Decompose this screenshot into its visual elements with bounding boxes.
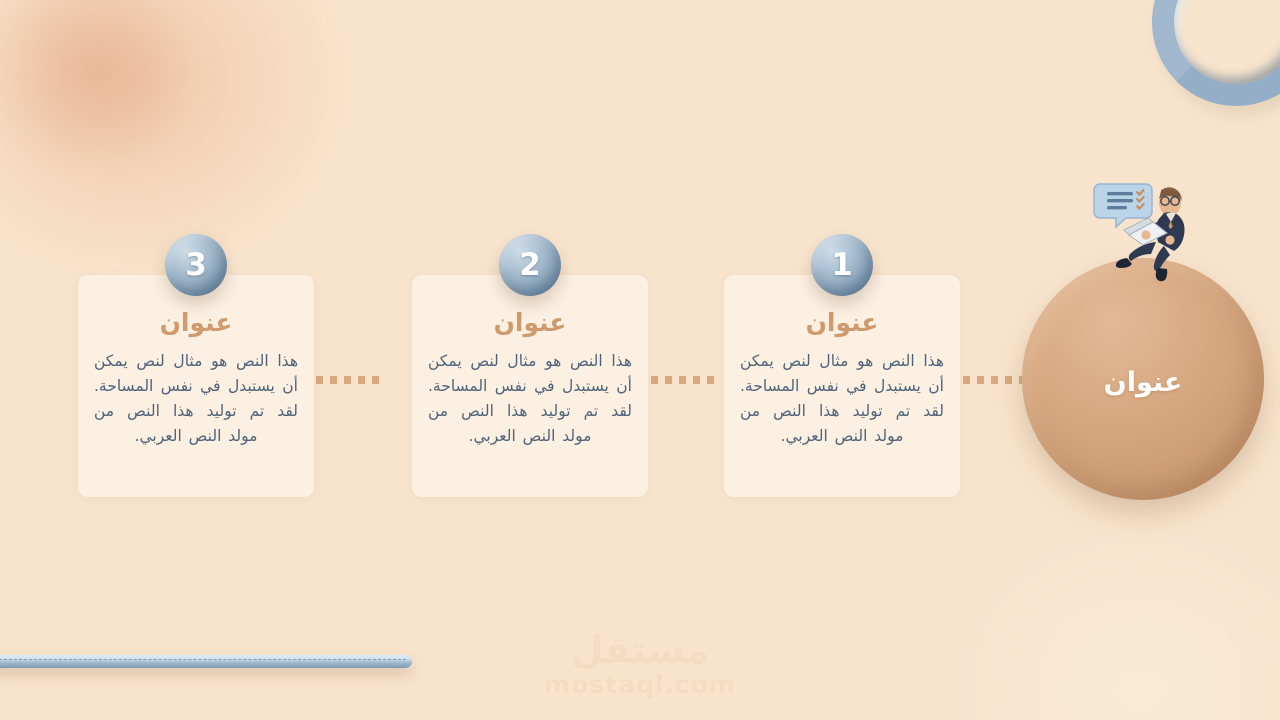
horizontal-bar-decoration bbox=[0, 655, 412, 668]
hero-circle-label: عنوان bbox=[1104, 367, 1183, 398]
step-badge-2[interactable]: 2 bbox=[499, 234, 561, 296]
info-card-2[interactable]: عنوان هذا النص هو مثال لنص يمكن أن يستبد… bbox=[412, 275, 648, 497]
card-body: هذا النص هو مثال لنص يمكن أن يستبدل في ن… bbox=[428, 349, 632, 449]
hero-circle[interactable]: عنوان bbox=[1022, 258, 1264, 500]
info-card-1[interactable]: عنوان هذا النص هو مثال لنص يمكن أن يستبد… bbox=[724, 275, 960, 497]
step-badge-number: 2 bbox=[519, 250, 541, 281]
card-title: عنوان bbox=[428, 309, 632, 337]
torus-ring-icon bbox=[1152, 0, 1280, 106]
card-title: عنوان bbox=[94, 309, 298, 337]
card-body: هذا النص هو مثال لنص يمكن أن يستبدل في ن… bbox=[740, 349, 944, 449]
info-card-3[interactable]: عنوان هذا النص هو مثال لنص يمكن أن يستبد… bbox=[78, 275, 314, 497]
watermark-latin: mostaql.com bbox=[0, 671, 1280, 699]
background-wash-bottom-right bbox=[880, 460, 1280, 720]
card-body: هذا النص هو مثال لنص يمكن أن يستبدل في ن… bbox=[94, 349, 298, 449]
slide-canvas: عنوان bbox=[0, 0, 1280, 720]
background-wash-top-left-inner bbox=[0, 0, 240, 220]
step-badge-number: 1 bbox=[831, 250, 853, 281]
connector-circle-to-card-1 bbox=[963, 376, 1025, 384]
step-badge-3[interactable]: 3 bbox=[165, 234, 227, 296]
man-with-laptop-illustration bbox=[1078, 172, 1208, 292]
step-badge-number: 3 bbox=[185, 250, 207, 281]
connector-card-1-to-card-2 bbox=[651, 376, 721, 384]
step-badge-1[interactable]: 1 bbox=[811, 234, 873, 296]
connector-card-2-to-card-3 bbox=[316, 376, 386, 384]
card-title: عنوان bbox=[740, 309, 944, 337]
